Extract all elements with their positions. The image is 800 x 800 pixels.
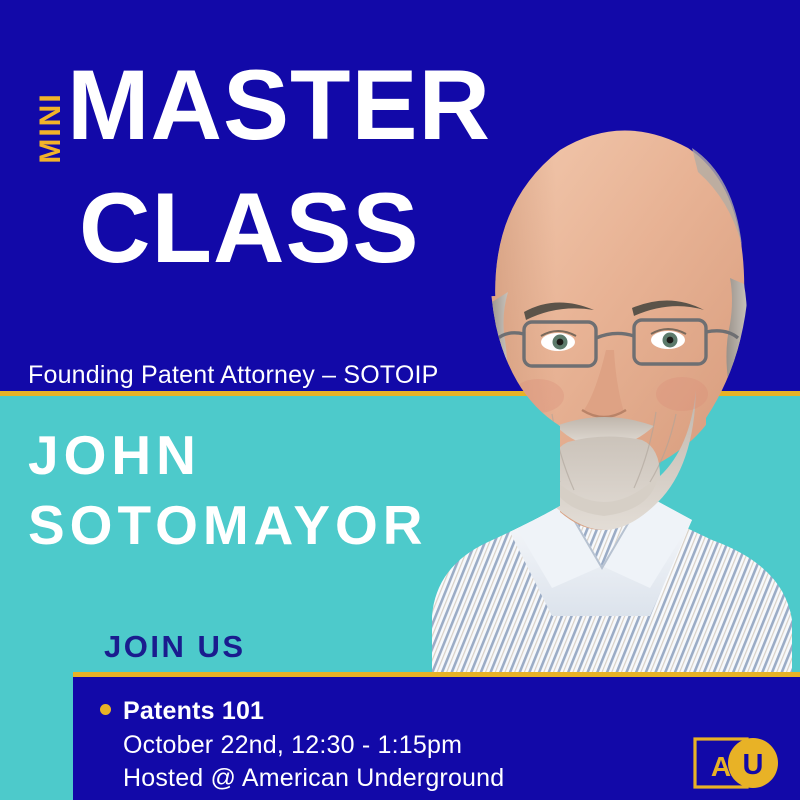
speaker-subtitle: Founding Patent Attorney – SOTOIP <box>28 363 439 388</box>
speaker-portrait-photo <box>392 96 800 696</box>
cta-heading: JOIN US <box>104 631 246 662</box>
speaker-first-name: JOHN <box>28 420 428 490</box>
event-title: Patents 101 <box>123 695 264 729</box>
logo-letter-a: A <box>711 751 731 782</box>
kicker-mini: MINI <box>36 73 66 183</box>
logo-letter-u: U <box>743 749 764 781</box>
event-details-panel: Patents 101 October 22nd, 12:30 - 1:15pm… <box>73 672 800 800</box>
event-location: Hosted @ American Underground <box>123 762 504 796</box>
event-detail-row: October 22nd, 12:30 - 1:15pm <box>100 729 504 763</box>
speaker-last-name: SOTOMAYOR <box>28 490 428 560</box>
event-detail-row: Patents 101 <box>100 695 504 729</box>
title-master: MASTER <box>67 55 491 154</box>
poster-canvas: MINI MASTER CLASS Founding Patent Attorn… <box>0 0 800 800</box>
title-class: CLASS <box>79 178 420 277</box>
event-detail-row: Hosted @ American Underground <box>100 762 504 796</box>
event-details-list: Patents 101 October 22nd, 12:30 - 1:15pm… <box>100 695 504 796</box>
bullet-dot-icon <box>100 704 111 715</box>
american-underground-logo: A U <box>693 737 779 789</box>
speaker-name: JOHN SOTOMAYOR <box>28 420 428 561</box>
event-datetime: October 22nd, 12:30 - 1:15pm <box>123 729 462 763</box>
